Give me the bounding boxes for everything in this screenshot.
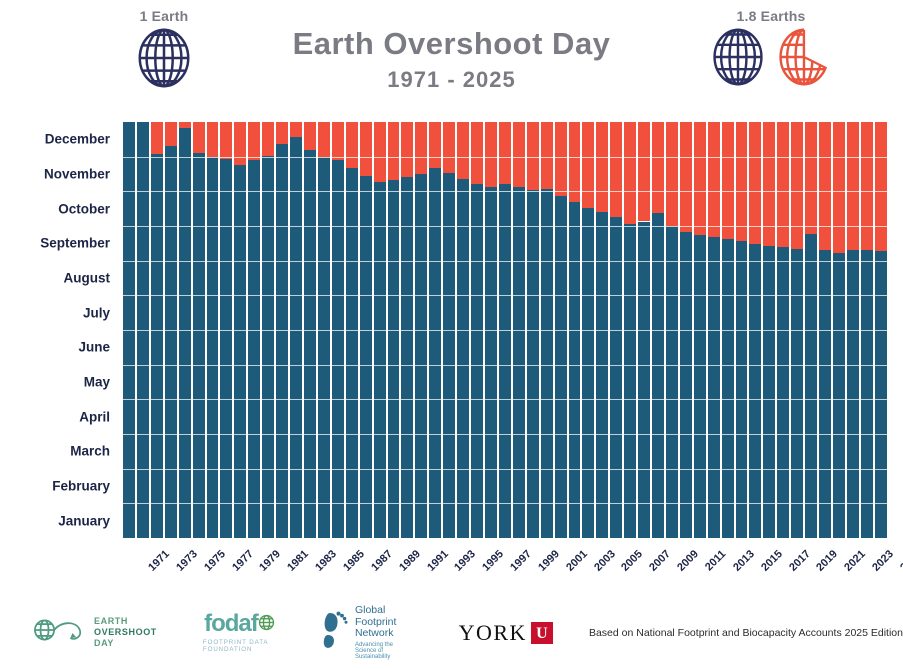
- bar-column[interactable]: [790, 122, 804, 538]
- bar-column[interactable]: [164, 122, 178, 538]
- bar-segment-overshoot: [610, 122, 622, 217]
- bar-segment-within-budget: [276, 144, 288, 538]
- bar-segment-overshoot: [318, 122, 330, 157]
- bar-segment-overshoot: [374, 122, 386, 182]
- bar-segment-overshoot: [861, 122, 873, 250]
- y-axis-label-july: July: [0, 305, 110, 320]
- bars-container: [122, 122, 888, 538]
- x-axis-label-1991: 1991: [425, 548, 451, 574]
- bar-segment-within-budget: [680, 232, 692, 538]
- bar-segment-within-budget: [736, 241, 748, 538]
- bar-segment-overshoot: [499, 122, 511, 184]
- bar-segment-overshoot: [791, 122, 803, 249]
- bar-column[interactable]: [345, 122, 359, 538]
- bar-segment-within-budget: [875, 251, 887, 538]
- footprint-icon: [316, 610, 350, 655]
- bar-column[interactable]: [150, 122, 164, 538]
- chart: JanuaryFebruaryMarchAprilMayJuneJulyAugu…: [0, 118, 903, 596]
- x-axis-label-1985: 1985: [341, 548, 367, 574]
- source-note: Based on National Footprint and Biocapac…: [589, 627, 903, 639]
- bar-column[interactable]: [832, 122, 846, 538]
- bar-column[interactable]: [289, 122, 303, 538]
- bar-segment-within-budget: [666, 226, 678, 538]
- bar-segment-overshoot: [234, 122, 246, 165]
- bar-segment-overshoot: [276, 122, 288, 144]
- bar-column[interactable]: [136, 122, 150, 538]
- x-axis-label-1975: 1975: [202, 548, 228, 574]
- page-subtitle: 1971 - 2025: [231, 67, 672, 93]
- y-axis-label-january: January: [0, 513, 110, 528]
- bar-column[interactable]: [568, 122, 582, 538]
- x-axis-label-2019: 2019: [815, 548, 841, 574]
- global-footprint-network-logo: Global Footprint Network Advancing the S…: [316, 605, 413, 660]
- bar-segment-within-budget: [638, 222, 650, 539]
- y-axis-label-november: November: [0, 167, 110, 182]
- fodafo-logo: fodaf FOOTPRINT DATA FOUNDATION: [203, 612, 276, 653]
- bar-segment-within-budget: [722, 239, 734, 538]
- eod-logo-line-3: DAY: [94, 638, 157, 649]
- york-wordmark: YORK: [459, 620, 527, 646]
- bar-column[interactable]: [456, 122, 470, 538]
- bar-segment-within-budget: [374, 182, 386, 538]
- bar-segment-overshoot: [749, 122, 761, 244]
- y-axis-label-august: August: [0, 271, 110, 286]
- x-axis-label-2025: 2025: [898, 548, 903, 574]
- bar-segment-within-budget: [763, 246, 775, 538]
- bar-segment-overshoot: [207, 122, 219, 157]
- bar-column[interactable]: [373, 122, 387, 538]
- y-axis-label-december: December: [0, 132, 110, 147]
- bar-column[interactable]: [178, 122, 192, 538]
- bar-segment-overshoot: [555, 122, 567, 196]
- one-point-eight-earths-caption: 1.8 Earths: [700, 8, 842, 24]
- bar-segment-overshoot: [596, 122, 608, 212]
- bar-segment-within-budget: [694, 235, 706, 538]
- bar-segment-overshoot: [777, 122, 789, 247]
- bar-segment-overshoot: [401, 122, 413, 177]
- bar-segment-overshoot: [833, 122, 845, 253]
- bar-segment-within-budget: [304, 150, 316, 538]
- one-earth-globe-row: [108, 27, 220, 94]
- bar-column[interactable]: [595, 122, 609, 538]
- bar-segment-overshoot: [151, 122, 163, 154]
- bar-segment-within-budget: [805, 234, 817, 538]
- bar-segment-within-budget: [861, 250, 873, 538]
- x-axis-label-2013: 2013: [731, 548, 757, 574]
- bar-segment-within-budget: [499, 184, 511, 538]
- x-axis-label-1983: 1983: [313, 548, 339, 574]
- bar-segment-within-budget: [332, 160, 344, 538]
- one-point-eight-earths-block: 1.8 Earths: [700, 8, 842, 92]
- y-axis-label-april: April: [0, 409, 110, 424]
- x-axis-label-2015: 2015: [759, 548, 785, 574]
- bar-column[interactable]: [637, 122, 651, 538]
- bar-segment-overshoot: [666, 122, 678, 226]
- x-axis-label-1973: 1973: [174, 548, 200, 574]
- eod-logo-line-2: OVERSHOOT: [94, 627, 157, 638]
- bar-column[interactable]: [470, 122, 484, 538]
- bar-column[interactable]: [512, 122, 526, 538]
- bar-segment-overshoot: [763, 122, 775, 246]
- bar-column[interactable]: [762, 122, 776, 538]
- bar-column[interactable]: [874, 122, 888, 538]
- bar-segment-overshoot: [388, 122, 400, 180]
- bar-segment-within-budget: [457, 179, 469, 538]
- bar-segment-overshoot: [443, 122, 455, 173]
- fodafo-globe-icon: [258, 612, 275, 636]
- bar-segment-within-budget: [220, 159, 232, 538]
- bar-segment-overshoot: [875, 122, 887, 251]
- y-axis-label-june: June: [0, 340, 110, 355]
- fodafo-tagline: FOOTPRINT DATA FOUNDATION: [203, 639, 276, 653]
- bar-column[interactable]: [219, 122, 233, 538]
- bar-segment-overshoot: [708, 122, 720, 237]
- bar-segment-within-budget: [290, 137, 302, 538]
- x-axis-label-1995: 1995: [480, 548, 506, 574]
- x-axis-label-1989: 1989: [397, 548, 423, 574]
- bar-column[interactable]: [359, 122, 373, 538]
- bar-segment-within-budget: [388, 180, 400, 538]
- x-axis-label-1999: 1999: [536, 548, 562, 574]
- bar-segment-within-budget: [596, 212, 608, 538]
- fodafo-word-text: fodaf: [204, 612, 258, 636]
- y-axis-label-october: October: [0, 201, 110, 216]
- bar-column[interactable]: [275, 122, 289, 538]
- bar-column[interactable]: [317, 122, 331, 538]
- bar-segment-within-budget: [248, 160, 260, 538]
- bar-column[interactable]: [442, 122, 456, 538]
- bar-column[interactable]: [609, 122, 623, 538]
- one-point-eight-earths-globe-row: [700, 27, 842, 92]
- footer: EARTH OVERSHOOT DAY fodaf FOOTPRINT D: [0, 596, 903, 669]
- x-axis-label-1993: 1993: [453, 548, 479, 574]
- bar-segment-overshoot: [429, 122, 441, 168]
- bar-segment-overshoot: [262, 122, 274, 156]
- y-axis-label-february: February: [0, 479, 110, 494]
- bar-column[interactable]: [233, 122, 247, 538]
- bar-segment-within-budget: [123, 122, 135, 538]
- bar-segment-within-budget: [513, 187, 525, 538]
- page-title: Earth Overshoot Day: [231, 28, 672, 61]
- bar-column[interactable]: [846, 122, 860, 538]
- x-axis-label-2017: 2017: [787, 548, 813, 574]
- bar-segment-within-budget: [415, 174, 427, 538]
- bar-column[interactable]: [526, 122, 540, 538]
- york-university-logo: YORK U: [459, 620, 553, 646]
- earth-overshoot-day-logo: EARTH OVERSHOOT DAY: [32, 615, 157, 650]
- bar-segment-overshoot: [165, 122, 177, 146]
- bar-segment-overshoot: [220, 122, 232, 159]
- bar-segment-overshoot: [722, 122, 734, 239]
- bar-segment-within-budget: [346, 168, 358, 538]
- globe-icon: [133, 27, 195, 94]
- bar-segment-overshoot: [304, 122, 316, 150]
- bar-column[interactable]: [748, 122, 762, 538]
- bar-segment-overshoot: [582, 122, 594, 208]
- bar-segment-within-budget: [443, 173, 455, 538]
- bar-segment-within-budget: [360, 176, 372, 538]
- bar-column[interactable]: [818, 122, 832, 538]
- bar-segment-overshoot: [680, 122, 692, 232]
- one-earth-block: 1 Earth: [108, 8, 220, 94]
- bar-segment-within-budget: [624, 224, 636, 538]
- bar-column[interactable]: [665, 122, 679, 538]
- bar-segment-within-budget: [833, 253, 845, 538]
- gfn-tagline: Advancing the Science of Sustainability: [355, 642, 413, 660]
- bar-segment-within-budget: [819, 250, 831, 538]
- bar-segment-overshoot: [193, 122, 205, 153]
- x-axis-label-1997: 1997: [508, 548, 534, 574]
- bar-column[interactable]: [679, 122, 693, 538]
- bar-column[interactable]: [651, 122, 665, 538]
- x-axis-label-1971: 1971: [146, 548, 172, 574]
- bar-segment-within-budget: [749, 244, 761, 538]
- bar-column[interactable]: [735, 122, 749, 538]
- x-axis: 1971197319751977197919811983198519871989…: [122, 542, 888, 596]
- x-axis-label-2003: 2003: [592, 548, 618, 574]
- one-earth-caption: 1 Earth: [108, 8, 220, 24]
- bar-segment-overshoot: [736, 122, 748, 241]
- bar-segment-overshoot: [346, 122, 358, 168]
- bar-segment-within-budget: [777, 247, 789, 538]
- bar-segment-overshoot: [805, 122, 817, 234]
- partial-globe-icon: [774, 27, 834, 92]
- bar-segment-overshoot: [290, 122, 302, 137]
- bar-segment-within-budget: [179, 128, 191, 538]
- bar-segment-overshoot: [624, 122, 636, 224]
- bar-column[interactable]: [192, 122, 206, 538]
- bar-segment-within-budget: [262, 156, 274, 538]
- fodafo-wordmark: fodaf: [204, 612, 275, 636]
- bar-column[interactable]: [122, 122, 136, 538]
- bar-segment-within-budget: [555, 196, 567, 538]
- bar-segment-within-budget: [569, 202, 581, 538]
- chart-header: 1 Earth: [0, 0, 903, 118]
- eod-logo-line-1: EARTH: [94, 616, 157, 627]
- x-axis-label-2005: 2005: [620, 548, 646, 574]
- globe-icon: [708, 27, 768, 92]
- earth-overshoot-day-logo-text: EARTH OVERSHOOT DAY: [94, 616, 157, 650]
- globe-arrow-icon: [32, 615, 88, 650]
- bar-segment-within-budget: [847, 250, 859, 538]
- title-block: Earth Overshoot Day 1971 - 2025: [231, 28, 672, 93]
- bar-column[interactable]: [400, 122, 414, 538]
- bar-column[interactable]: [261, 122, 275, 538]
- bar-segment-overshoot: [513, 122, 525, 187]
- bar-segment-within-budget: [485, 187, 497, 538]
- bar-column[interactable]: [414, 122, 428, 538]
- bar-segment-overshoot: [415, 122, 427, 174]
- bar-column[interactable]: [498, 122, 512, 538]
- x-axis-label-2001: 2001: [564, 548, 590, 574]
- bar-column[interactable]: [331, 122, 345, 538]
- x-axis-label-2021: 2021: [842, 548, 868, 574]
- bar-column[interactable]: [540, 122, 554, 538]
- bar-segment-overshoot: [457, 122, 469, 179]
- bar-segment-within-budget: [610, 217, 622, 538]
- bar-column[interactable]: [387, 122, 401, 538]
- bar-segment-within-budget: [708, 237, 720, 538]
- bar-segment-overshoot: [569, 122, 581, 202]
- bar-column[interactable]: [247, 122, 261, 538]
- bar-segment-within-budget: [165, 146, 177, 538]
- bar-column[interactable]: [428, 122, 442, 538]
- gfn-text: Global Footprint Network Advancing the S…: [355, 605, 413, 660]
- plot-area: [122, 122, 888, 538]
- bar-segment-within-budget: [193, 153, 205, 538]
- x-axis-label-2007: 2007: [648, 548, 674, 574]
- bar-column[interactable]: [303, 122, 317, 538]
- bar-segment-overshoot: [485, 122, 497, 187]
- bar-column[interactable]: [484, 122, 498, 538]
- bar-segment-within-budget: [471, 184, 483, 538]
- y-axis-label-march: March: [0, 444, 110, 459]
- bar-segment-overshoot: [694, 122, 706, 235]
- bar-segment-within-budget: [137, 122, 149, 538]
- bar-segment-within-budget: [582, 208, 594, 538]
- bar-column[interactable]: [623, 122, 637, 538]
- bar-segment-overshoot: [332, 122, 344, 160]
- x-axis-label-1987: 1987: [369, 548, 395, 574]
- bar-segment-within-budget: [429, 168, 441, 538]
- y-axis-label-september: September: [0, 236, 110, 251]
- bar-segment-within-budget: [652, 213, 664, 538]
- bar-segment-within-budget: [791, 249, 803, 538]
- bar-column[interactable]: [776, 122, 790, 538]
- x-axis-label-2011: 2011: [703, 548, 728, 573]
- bar-column[interactable]: [581, 122, 595, 538]
- bar-column[interactable]: [554, 122, 568, 538]
- x-axis-label-2023: 2023: [870, 548, 896, 574]
- gfn-name: Global Footprint Network: [355, 605, 413, 640]
- bar-segment-within-budget: [527, 190, 539, 538]
- bar-column[interactable]: [707, 122, 721, 538]
- x-axis-label-2009: 2009: [675, 548, 701, 574]
- bar-column[interactable]: [721, 122, 735, 538]
- bar-segment-within-budget: [151, 154, 163, 538]
- x-axis-label-1979: 1979: [258, 548, 284, 574]
- bar-column[interactable]: [804, 122, 818, 538]
- bar-segment-overshoot: [847, 122, 859, 250]
- bar-segment-overshoot: [179, 122, 191, 128]
- bar-segment-overshoot: [819, 122, 831, 250]
- bar-segment-within-budget: [541, 189, 553, 538]
- bar-column[interactable]: [693, 122, 707, 538]
- bar-segment-overshoot: [527, 122, 539, 190]
- bar-segment-within-budget: [401, 177, 413, 538]
- bar-column[interactable]: [206, 122, 220, 538]
- bar-segment-within-budget: [207, 157, 219, 538]
- x-axis-label-1977: 1977: [230, 548, 256, 574]
- bar-segment-overshoot: [541, 122, 553, 189]
- york-u-mark: U: [531, 622, 553, 644]
- x-axis-label-1981: 1981: [285, 548, 311, 574]
- bar-segment-overshoot: [360, 122, 372, 176]
- bar-column[interactable]: [860, 122, 874, 538]
- bar-segment-within-budget: [318, 157, 330, 538]
- y-axis-label-may: May: [0, 375, 110, 390]
- bar-segment-within-budget: [234, 165, 246, 538]
- bar-segment-overshoot: [638, 122, 650, 221]
- y-axis: JanuaryFebruaryMarchAprilMayJuneJulyAugu…: [0, 122, 118, 538]
- bar-segment-overshoot: [471, 122, 483, 184]
- bar-segment-overshoot: [248, 122, 260, 160]
- bar-segment-overshoot: [652, 122, 664, 213]
